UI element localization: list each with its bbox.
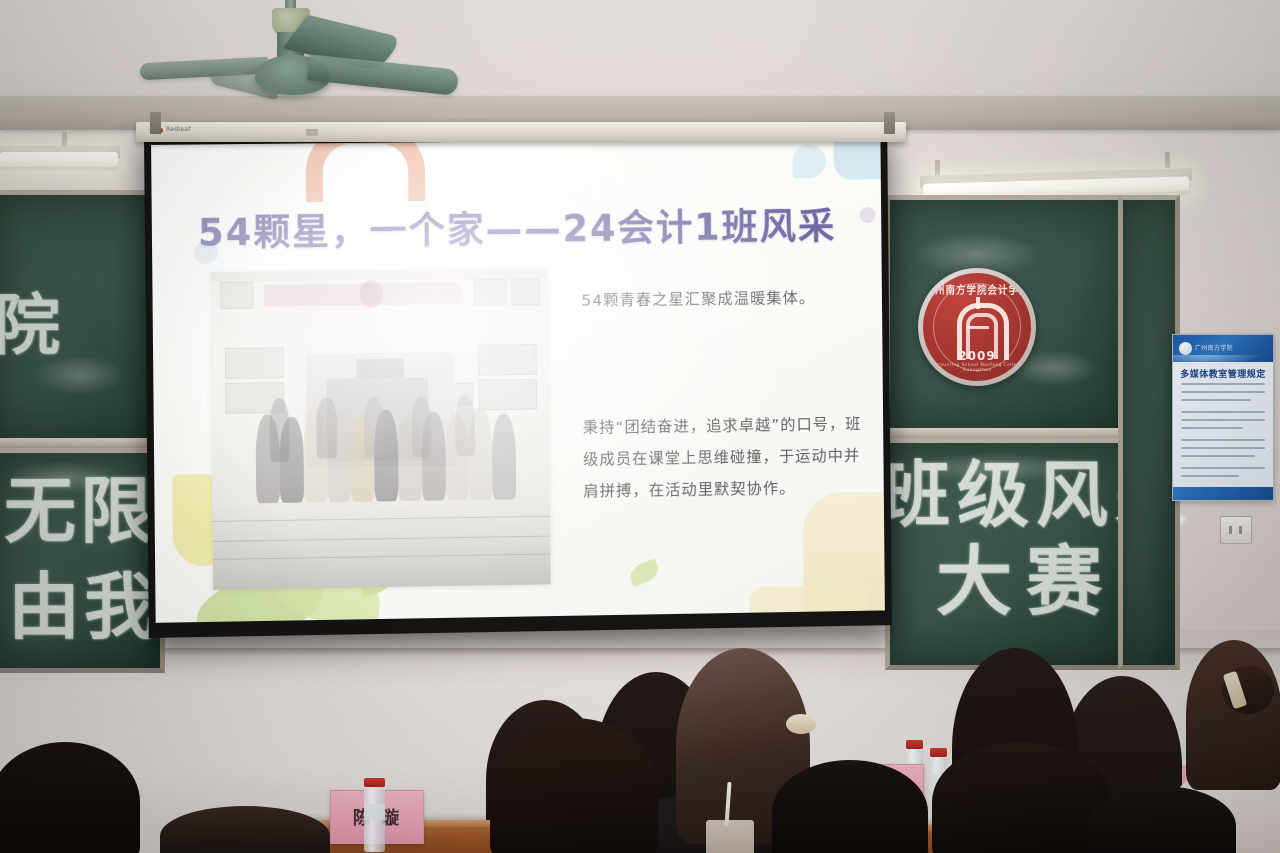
- fluorescent-tube-left: [0, 152, 118, 167]
- slide-deco-arch: [305, 138, 425, 202]
- light-hanger: [1165, 152, 1170, 168]
- slide-deco-cream-shape: [750, 585, 868, 623]
- poster-header-band: 广州南方学院: [1173, 335, 1273, 362]
- screen-bracket-right: [884, 112, 895, 134]
- emblem-year: 2009: [923, 349, 1031, 363]
- emblem-disc: 广州南方学院会计学院 2009 Accounting School Nanfan…: [923, 273, 1031, 381]
- student-head: [1186, 640, 1280, 790]
- student-head: [490, 718, 658, 853]
- wall-poster-classroom-rules: 广州南方学院 多媒体教室管理规定: [1172, 334, 1274, 501]
- drink-cup: [706, 820, 754, 853]
- student-head: [772, 760, 928, 853]
- projector-screen-frame: 54颗星，一个家——24会计1班风采: [144, 131, 892, 638]
- blackboard-far-right: [1118, 195, 1180, 670]
- chalk-text-left-2: 无限: [4, 452, 156, 557]
- water-bottle: [364, 786, 385, 852]
- slide-title: 54颗星，一个家——24会计1班风采: [152, 195, 882, 257]
- slide-deco-leaf: [627, 559, 661, 587]
- classroom-scene: 院 无限 由我 广州南方学院会计学院 2009 Accounting Schoo…: [0, 0, 1280, 853]
- poster-header-text: 广州南方学院: [1195, 343, 1233, 352]
- school-emblem: 广州南方学院会计学院 2009 Accounting School Nanfan…: [918, 268, 1036, 386]
- hair-clip: [786, 714, 816, 734]
- poster-logo-icon: [1179, 342, 1192, 355]
- chalk-text-left-3: 由我: [8, 548, 160, 653]
- emblem-bar: [967, 326, 989, 329]
- emblem-chinese-text: 广州南方学院会计学院: [923, 281, 1031, 297]
- slide-deco-blue-dot: [792, 144, 826, 178]
- poster-title: 多媒体教室管理规定: [1173, 367, 1273, 380]
- projector-screen-housing[interactable]: Redleaf: [136, 122, 906, 142]
- screen-control-button[interactable]: [306, 129, 318, 136]
- chalk-text-right-2: 大赛: [936, 520, 1116, 630]
- housing-brand-label: Redleaf: [166, 126, 191, 133]
- poster-footer-band: [1173, 487, 1273, 500]
- wall-power-outlet[interactable]: [1220, 516, 1252, 544]
- screen-bracket-left: [150, 112, 161, 134]
- slide-deco-blue-shape: [833, 138, 885, 180]
- ceiling-fan: [160, 0, 520, 120]
- slide-group-photo: [210, 268, 550, 590]
- chalk-text-left-1: 院: [0, 272, 64, 368]
- slide-paragraph-2: 秉持“团结奋进，追求卓越”的口号，班级成员在课堂上思维碰撞，于运动中并肩拼搏，在…: [583, 409, 869, 508]
- student-head: [932, 742, 1112, 853]
- emblem-english-text: Accounting School Nanfang College Guangz…: [923, 363, 1031, 373]
- light-hanger: [935, 160, 940, 176]
- slide-paragraph-1: 54颗青春之星汇聚成温暖集体。: [581, 282, 866, 317]
- projected-slide: 54颗星，一个家——24会计1班风采: [151, 138, 885, 623]
